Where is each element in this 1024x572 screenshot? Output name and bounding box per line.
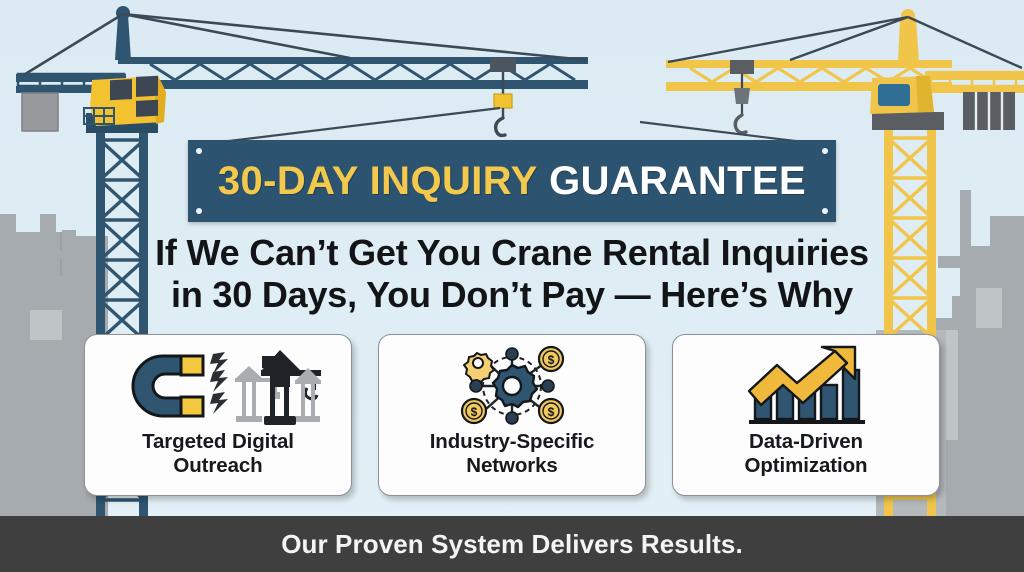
headline-line-1: If We Can’t Get You Crane Rental Inquiri…	[0, 232, 1024, 274]
banner-grommet-top-left	[196, 148, 202, 154]
svg-text:$: $	[548, 405, 555, 419]
right-crane-trolley	[730, 60, 754, 133]
footer-tagline: Our Proven System Delivers Results.	[281, 529, 743, 560]
guarantee-banner: 30-DAY INQUIRY GUARANTEE	[188, 140, 836, 222]
right-crane-cab	[870, 76, 934, 114]
poster-canvas: 30-DAY INQUIRY GUARANTEE If We Can’t Get…	[0, 0, 1024, 572]
feature-card-data-driven-optimization[interactable]: Data-Driven Optimization	[672, 334, 940, 496]
headline-line-2: in 30 Days, You Don’t Pay — Here’s Why	[0, 274, 1024, 316]
card-label-line-2: Outreach	[142, 454, 294, 478]
feature-card-industry-specific-networks[interactable]: $ $ $	[378, 334, 646, 496]
central-gear-icon	[493, 365, 537, 407]
feature-card-label: Data-Driven Optimization	[745, 430, 868, 478]
card-label-line-2: Networks	[430, 454, 595, 478]
feature-card-label: Targeted Digital Outreach	[142, 430, 294, 478]
banner-headline-gold: 30-DAY INQUIRY	[218, 159, 538, 203]
card-label-line-2: Optimization	[745, 454, 868, 478]
left-crane-counterweight	[22, 93, 58, 131]
banner-grommet-top-right	[822, 148, 828, 154]
lightning-bolt-icons	[210, 352, 228, 414]
bar-chart-growth-arrow-icon	[743, 344, 869, 428]
card-label-line-1: Industry-Specific	[430, 430, 595, 454]
magnet-icon	[133, 356, 203, 416]
small-gear-icon	[464, 353, 494, 382]
feature-card-targeted-digital-outreach[interactable]: Targeted Digital Outreach	[84, 334, 352, 496]
feature-card-label: Industry-Specific Networks	[430, 430, 595, 478]
left-crane-trolley	[490, 58, 516, 135]
feature-cards: Targeted Digital Outreach	[0, 334, 1024, 496]
banner-grommet-bottom-right	[822, 208, 828, 214]
magnet-cranes-icon	[115, 344, 321, 428]
growth-arrow-icon	[749, 347, 855, 405]
card-label-line-1: Targeted Digital	[142, 430, 294, 454]
svg-text:$: $	[548, 353, 555, 367]
gear-network-coins-icon: $ $ $	[452, 344, 572, 428]
right-crane-turntable	[872, 112, 944, 130]
chart-baseline	[749, 420, 865, 424]
footer-bar: Our Proven System Delivers Results.	[0, 516, 1024, 572]
page-headline: If We Can’t Get You Crane Rental Inquiri…	[0, 232, 1024, 316]
svg-text:$: $	[471, 405, 478, 419]
banner-grommet-bottom-left	[196, 208, 202, 214]
card-label-line-1: Data-Driven	[745, 430, 868, 454]
small-crane-right-icon	[295, 368, 321, 422]
banner-headline-white: GUARANTEE	[549, 159, 806, 203]
left-crane-cab	[84, 76, 166, 126]
banner-headline: 30-DAY INQUIRY GUARANTEE	[218, 159, 806, 204]
